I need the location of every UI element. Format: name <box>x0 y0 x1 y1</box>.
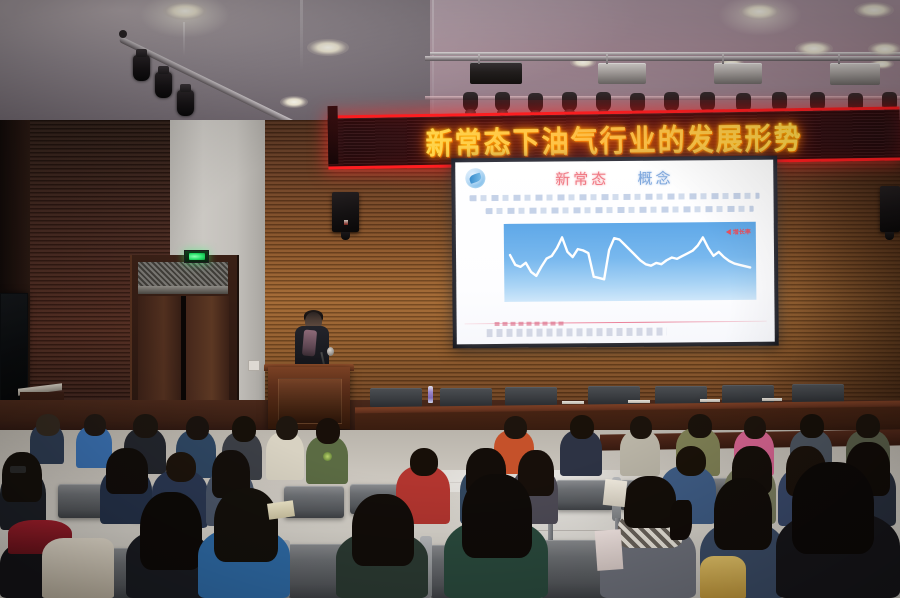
truss-end-cap <box>119 30 127 38</box>
light-stem <box>838 54 840 64</box>
slide-body-line <box>469 193 759 202</box>
audience-head <box>800 414 824 438</box>
eyeglasses-icon <box>10 466 26 473</box>
head-table-chair <box>505 387 557 406</box>
downlight <box>795 41 833 56</box>
audience-head <box>36 414 60 436</box>
table-paper <box>762 398 782 401</box>
light-stem <box>722 54 724 64</box>
audience-person <box>700 556 746 598</box>
head-table-chair <box>440 388 492 407</box>
stage-light-housing <box>470 62 522 84</box>
audience-hair <box>462 474 532 558</box>
audience-head <box>133 414 158 438</box>
audience-head <box>856 414 880 438</box>
audience-head <box>316 418 340 444</box>
audience-head <box>744 416 766 439</box>
audience-head <box>410 448 438 476</box>
audience-person <box>42 538 114 598</box>
audience-hair <box>792 462 874 554</box>
par-can-light <box>562 92 577 112</box>
lecture-hall-photo: 新常态下油气行业的发展形势 新常态 概念 增长率 <box>0 0 900 598</box>
par-can-light <box>495 92 510 112</box>
table-paper <box>700 399 720 402</box>
led-banner-left-cap <box>328 106 339 164</box>
audience-head <box>630 416 652 439</box>
audience-hair <box>2 452 42 502</box>
table-paper <box>562 401 584 404</box>
jacket-emblem-icon <box>323 452 332 461</box>
downlight <box>163 2 207 20</box>
head-table-chair <box>370 388 422 407</box>
lighting-truss-right <box>425 56 900 61</box>
speaker-bracket <box>341 232 350 240</box>
audience-head <box>570 415 594 439</box>
stage-light-housing <box>830 63 880 85</box>
wall-speaker <box>332 192 359 232</box>
wall-display-monitor <box>0 293 28 403</box>
downlight <box>854 2 894 18</box>
chart-legend-label: 增长率 <box>733 227 751 236</box>
podium-microphone-icon <box>327 347 334 356</box>
table-paper <box>628 400 650 403</box>
audience-hair <box>352 494 414 566</box>
door-transom-panel <box>138 286 228 294</box>
speaker-led-icon <box>344 220 348 225</box>
wall-speaker <box>880 186 900 232</box>
ceiling-seam <box>300 0 303 70</box>
stage-spotlight <box>133 55 150 81</box>
par-can-light <box>528 93 543 113</box>
par-can-light <box>463 92 478 112</box>
audience-hair <box>106 448 148 494</box>
projection-screen: 新常态 概念 增长率 <box>451 156 779 349</box>
slide-footnote-text <box>495 321 565 326</box>
downlight <box>280 96 308 108</box>
truss-wire <box>183 22 185 56</box>
stage-spotlight <box>155 72 172 98</box>
light-stem <box>478 54 480 64</box>
downlight <box>307 39 349 56</box>
chart-legend-annotation: 增长率 <box>726 227 751 236</box>
exit-sign-icon <box>184 250 209 263</box>
slide-title-red: 新常态 <box>555 171 609 188</box>
downlight <box>868 42 900 56</box>
audience-head <box>186 416 209 440</box>
chart-line-svg <box>504 222 757 302</box>
stage-light-housing <box>598 63 646 84</box>
ceiling-seam <box>432 0 434 132</box>
slide-body-line <box>486 206 754 214</box>
downlight <box>739 3 780 20</box>
wall-switch-plate <box>248 360 260 371</box>
stage-spotlight <box>177 90 194 116</box>
slide-title: 新常态 概念 <box>455 167 773 191</box>
audience-hair <box>140 492 202 570</box>
stage-light-housing <box>714 63 762 84</box>
audience-head <box>504 416 527 439</box>
exit-running-man-glyph <box>189 253 205 260</box>
water-bottle <box>428 386 433 403</box>
light-stem <box>606 54 608 64</box>
audience-head <box>166 452 196 482</box>
audience-hair <box>714 478 772 550</box>
audience-head <box>84 414 106 436</box>
slide-title-blue: 概念 <box>637 170 673 187</box>
presenter-scarf <box>302 329 317 356</box>
presentation-slide: 新常态 概念 增长率 <box>455 160 775 345</box>
left-arrow-icon <box>726 228 731 234</box>
handout-paper <box>603 479 628 507</box>
audience-head <box>676 446 706 476</box>
head-table-chair <box>792 384 844 403</box>
audience-ponytail <box>670 500 692 540</box>
slide-footer-text <box>487 328 667 338</box>
audience-head <box>276 416 298 440</box>
audience-head <box>688 414 712 438</box>
audience-head <box>232 416 256 442</box>
slide-chart: 增长率 <box>504 222 757 302</box>
speaker-bracket <box>885 232 894 240</box>
head-table-chair <box>722 385 774 404</box>
door-transom-grille <box>138 262 228 286</box>
handout-paper <box>595 529 624 571</box>
right-wall-shadow <box>760 120 900 420</box>
audience-hair <box>214 488 278 562</box>
audience-hair <box>624 476 676 528</box>
par-can-light <box>596 92 611 112</box>
